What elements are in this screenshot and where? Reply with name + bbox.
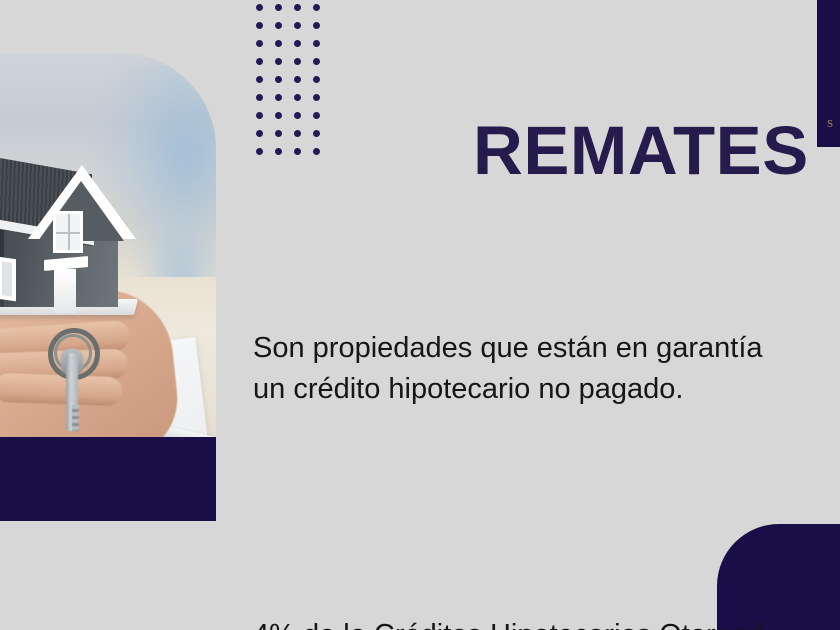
photo-background: [0, 53, 216, 438]
decorative-dot: [313, 76, 320, 83]
window-mullion-horizontal: [56, 232, 80, 234]
house-side-window: [0, 257, 16, 302]
decorative-dot: [294, 76, 301, 83]
navy-accent-block-left: [0, 437, 216, 521]
decorative-dot: [275, 94, 282, 101]
decorative-dot: [275, 76, 282, 83]
decorative-dot: [275, 148, 282, 155]
decorative-dot: [256, 148, 263, 155]
paragraph-2-line-1: 4% de lo Créditos Hipotecarios Otorgad: [253, 619, 764, 630]
decorative-dot: [294, 58, 301, 65]
decorative-dot: [256, 4, 263, 11]
strip-letter: S: [827, 118, 833, 130]
decorative-dot: [294, 40, 301, 47]
navy-accent-strip-top-right: S: [817, 0, 840, 147]
decorative-dot: [294, 130, 301, 137]
decorative-dot: [294, 4, 301, 11]
paragraph-2: 4% de lo Créditos Hipotecarios Otorgad a…: [253, 615, 840, 630]
decorative-dot: [256, 22, 263, 29]
decorative-dot: [294, 112, 301, 119]
decorative-dot: [313, 94, 320, 101]
decorative-dot: [275, 130, 282, 137]
decorative-dot: [256, 40, 263, 47]
decorative-dot: [275, 22, 282, 29]
house-gable-window: [53, 211, 83, 253]
body-copy: Son propiedades que están en garantía un…: [253, 246, 840, 630]
paragraph-1: Son propiedades que están en garantía un…: [253, 328, 840, 410]
decorative-dot: [275, 58, 282, 65]
paragraph-spacer: [253, 492, 840, 533]
decorative-dot: [275, 112, 282, 119]
decorative-dot: [294, 22, 301, 29]
finger-ring: [0, 373, 122, 406]
decorative-dot: [256, 58, 263, 65]
decorative-dot: [313, 112, 320, 119]
paragraph-1-line-2: un crédito hipotecario no pagado.: [253, 373, 683, 405]
decorative-dot: [275, 40, 282, 47]
decorative-dot: [256, 130, 263, 137]
decorative-dot: [275, 4, 282, 11]
decorative-dot: [313, 130, 320, 137]
house-door: [54, 269, 76, 313]
decorative-dot: [313, 4, 320, 11]
page-title: REMATES: [473, 116, 809, 185]
paragraph-1-line-1: Son propiedades que están en garantía: [253, 332, 763, 364]
decorative-dot: [313, 148, 320, 155]
decorative-dot: [313, 58, 320, 65]
decorative-dot: [313, 40, 320, 47]
decorative-dot: [256, 76, 263, 83]
decorative-dot: [294, 94, 301, 101]
slide-canvas: S REMATES Son propiedades que están en g…: [0, 0, 840, 630]
decorative-dot: [313, 22, 320, 29]
dot-grid-decoration: [256, 4, 326, 164]
key-teeth: [72, 405, 79, 431]
decorative-dot: [256, 94, 263, 101]
photo-panel: [0, 53, 216, 438]
decorative-dot: [294, 148, 301, 155]
decorative-dot: [256, 112, 263, 119]
